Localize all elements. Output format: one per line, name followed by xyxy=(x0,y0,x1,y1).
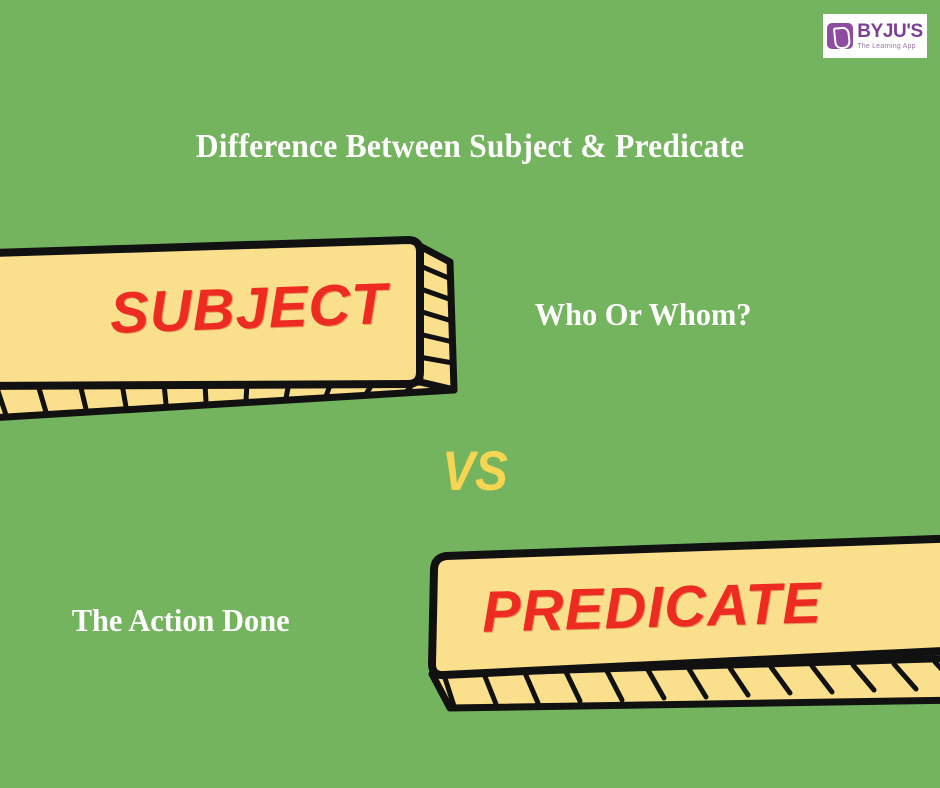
byjus-logo: BYJU'S The Learning App xyxy=(823,14,927,58)
byjus-logo-text: BYJU'S The Learning App xyxy=(857,22,922,50)
byjus-tagline: The Learning App xyxy=(857,43,922,50)
predicate-banner-label: PREDICATE xyxy=(481,569,823,645)
versus-label: VS xyxy=(431,438,519,503)
infographic-canvas: BYJU'S The Learning App Difference Betwe… xyxy=(0,0,940,788)
subject-banner-label: SUBJECT xyxy=(109,270,389,347)
byjus-mark-icon xyxy=(827,23,853,49)
predicate-banner: PREDICATE xyxy=(424,532,940,722)
subject-banner: SUBJECT xyxy=(0,232,484,422)
predicate-description: The Action Done xyxy=(72,602,290,639)
byjus-wordmark: BYJU'S xyxy=(857,22,922,41)
page-title: Difference Between Subject & Predicate xyxy=(33,128,907,166)
subject-description: Who Or Whom? xyxy=(535,296,752,333)
